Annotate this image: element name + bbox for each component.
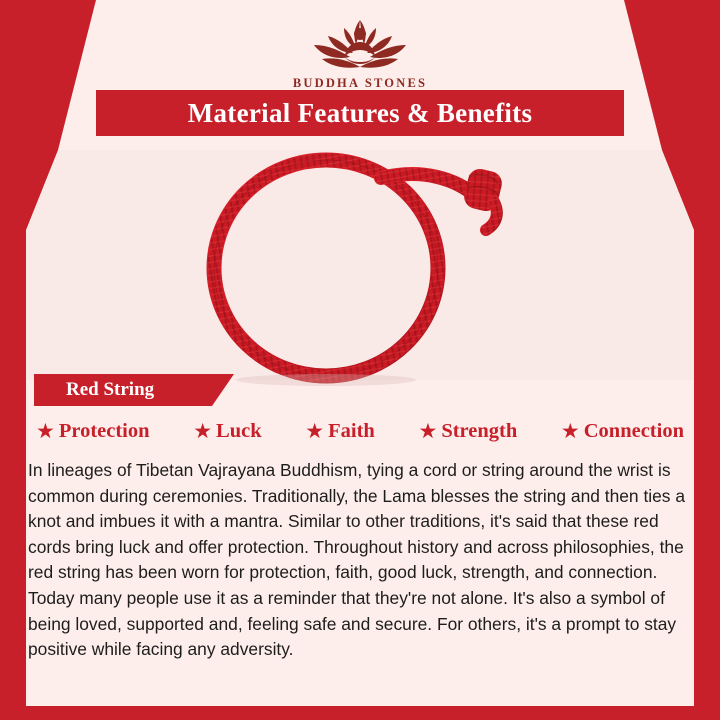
benefit-label-faith: Faith xyxy=(328,420,375,443)
brand-name: BUDDHA STONES xyxy=(0,76,720,91)
infographic-page: BUDDHA STONES Material Features & Benefi… xyxy=(0,0,720,720)
benefit-label-strength: Strength xyxy=(441,420,517,443)
benefit-label-luck: Luck xyxy=(216,420,262,443)
star-icon: ★ xyxy=(561,421,580,442)
product-label: Red String xyxy=(34,379,154,401)
benefit-label-protection: Protection xyxy=(59,420,150,443)
benefit-item: ★ Connection xyxy=(561,420,684,443)
red-braided-string-bracelet-illustration xyxy=(26,140,694,388)
page-title: Material Features & Benefits xyxy=(188,98,533,129)
star-icon: ★ xyxy=(36,421,55,442)
benefit-item: ★ Faith xyxy=(305,420,375,443)
brand-logo: BUDDHA STONES xyxy=(0,12,720,91)
product-image xyxy=(26,140,694,388)
star-icon: ★ xyxy=(305,421,324,442)
product-label-tag: Red String xyxy=(34,374,234,406)
decorative-band-bottom xyxy=(0,706,720,720)
benefit-label-connection: Connection xyxy=(584,420,684,443)
description-text: In lineages of Tibetan Vajrayana Buddhis… xyxy=(26,458,698,663)
star-icon: ★ xyxy=(418,421,437,442)
title-ribbon: Material Features & Benefits xyxy=(96,90,624,136)
benefits-row: ★ Protection ★ Luck ★ Faith ★ Strength ★… xyxy=(32,420,688,443)
star-icon: ★ xyxy=(193,421,212,442)
benefit-item: ★ Protection xyxy=(36,420,150,443)
benefit-item: ★ Strength xyxy=(418,420,517,443)
benefit-item: ★ Luck xyxy=(193,420,261,443)
lotus-meditation-logo-icon xyxy=(300,12,420,74)
